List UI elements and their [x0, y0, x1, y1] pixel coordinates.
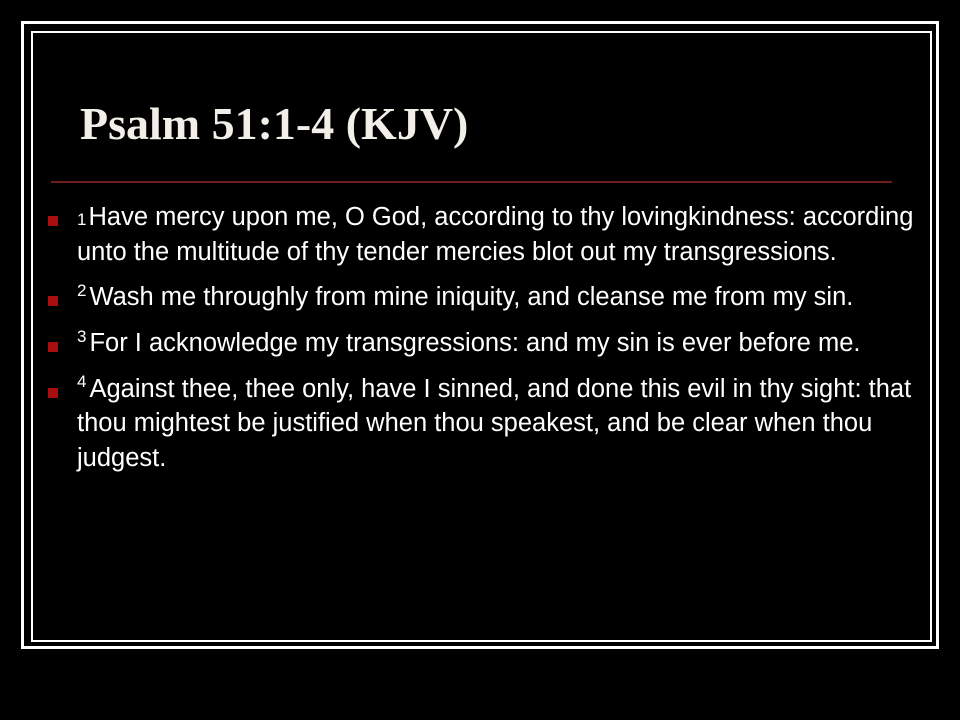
verse-body: For I acknowledge my transgressions: and… [89, 329, 860, 357]
list-item: 3For I acknowledge my transgressions: an… [48, 326, 923, 361]
slide-canvas: Psalm 51:1-4 (KJV) 1Have mercy upon me, … [0, 0, 960, 720]
bullet-text: 3For I acknowledge my transgressions: an… [77, 326, 922, 361]
square-bullet-icon [48, 296, 58, 306]
verse-number: 1 [77, 210, 88, 229]
title-divider-rule [51, 181, 892, 183]
list-item: 1Have mercy upon me, O God, according to… [48, 200, 923, 269]
square-bullet-icon [48, 342, 58, 352]
slide-title: Psalm 51:1-4 (KJV) [80, 98, 900, 151]
verse-body: Against thee, thee only, have I sinned, … [77, 375, 911, 472]
verse-number: 2 [77, 281, 89, 300]
square-bullet-icon [48, 216, 58, 226]
list-item: 2Wash me throughly from mine iniquity, a… [48, 280, 923, 315]
bullet-text: 4Against thee, thee only, have I sinned,… [77, 372, 922, 476]
bullet-list: 1Have mercy upon me, O God, according to… [48, 200, 923, 487]
verse-body: Wash me throughly from mine iniquity, an… [89, 283, 853, 311]
list-item: 4Against thee, thee only, have I sinned,… [48, 372, 923, 476]
square-bullet-icon [48, 388, 58, 398]
verse-number: 4 [77, 372, 89, 391]
bullet-text: 2Wash me throughly from mine iniquity, a… [77, 280, 922, 315]
bullet-text: 1Have mercy upon me, O God, according to… [77, 200, 922, 269]
verse-body: Have mercy upon me, O God, according to … [77, 203, 913, 266]
verse-number: 3 [77, 327, 89, 346]
